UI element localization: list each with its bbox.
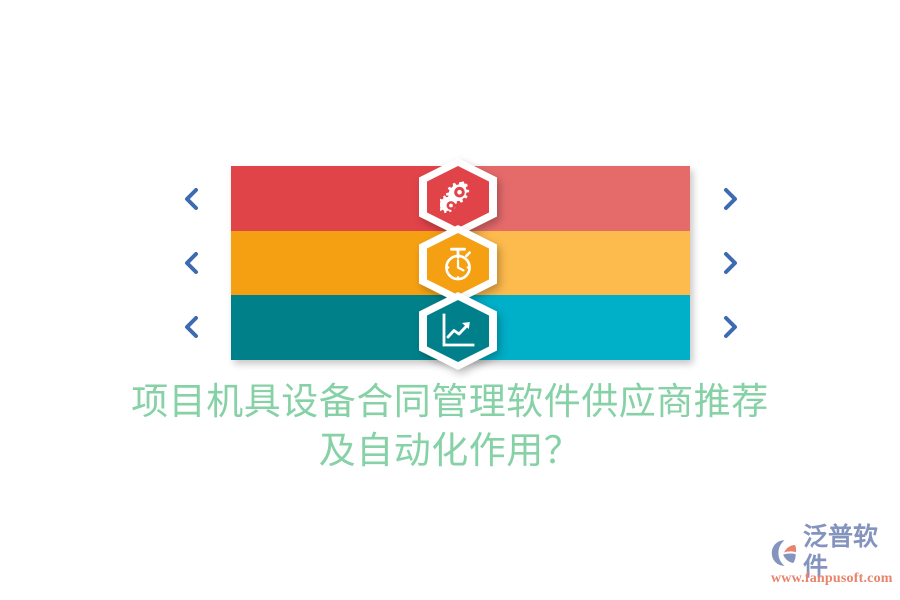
chevron-right-icon-3[interactable] [718,312,742,342]
chevron-left-icon-3[interactable] [180,312,204,342]
band-left-process [231,166,461,231]
banner-row-growth [231,295,690,360]
chevron-left-icon-2[interactable] [180,248,204,278]
chevron-right-icon-1[interactable] [718,184,742,214]
fanpu-logo-mark-icon [770,538,800,568]
band-right-time [461,231,690,296]
band-left-time [231,231,461,296]
slide-canvas: 项目机具设备合同管理软件供应商推荐 及自动化作用？ 泛普软件 www.fanpu… [0,0,900,600]
three-band-infographic-banner [231,166,690,360]
page-title: 项目机具设备合同管理软件供应商推荐 及自动化作用？ [0,378,900,476]
brand-logo: 泛普软件 www.fanpusoft.com [770,536,892,592]
banner-row-time [231,231,690,296]
band-right-growth [461,295,690,360]
band-left-growth [231,295,461,360]
chevron-right-icon-2[interactable] [718,248,742,278]
band-right-process [461,166,690,231]
banner-row-process [231,166,690,231]
chevron-left-icon-1[interactable] [180,184,204,214]
brand-url: www.fanpusoft.com [770,571,892,587]
